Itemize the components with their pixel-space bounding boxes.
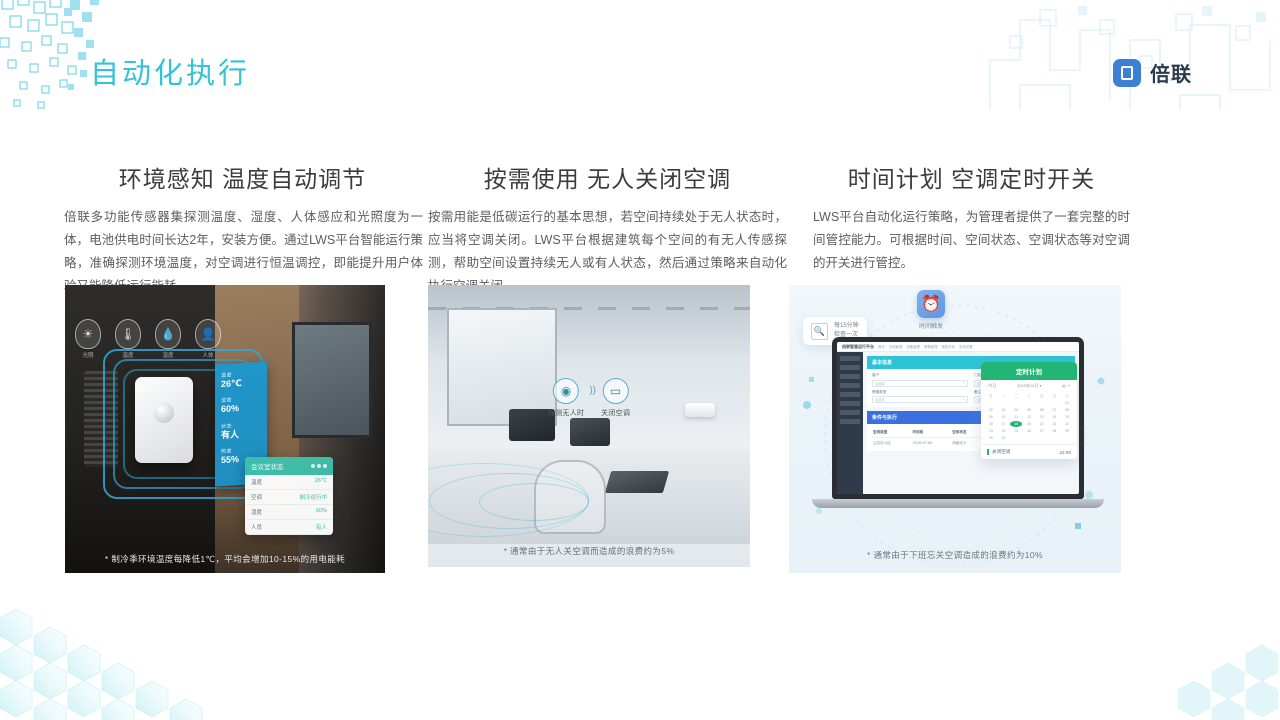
field-strategy-type: 策略类型 请选择 ˅ bbox=[872, 390, 968, 404]
card-row: 温度 26℃ bbox=[245, 475, 333, 490]
calendar-day[interactable]: 18 bbox=[1010, 421, 1022, 427]
calendar-dow: 五 bbox=[1049, 392, 1061, 399]
media-2-caption: * 通常由于无人关空调而造成的浪费约为5% bbox=[428, 545, 750, 557]
calendar-day[interactable]: 09 bbox=[985, 414, 997, 420]
calendar-day[interactable]: 07 bbox=[1049, 407, 1061, 413]
calendar-day[interactable]: 20 bbox=[1036, 421, 1048, 427]
calendar-dow: 二 bbox=[1010, 392, 1022, 399]
column-2-heading: 按需使用 无人关闭空调 bbox=[425, 160, 790, 194]
calendar-day[interactable]: 17 bbox=[998, 421, 1010, 427]
illustration-schedule: ⏰ 时间触发 🔍 每15分钟 检查一次 倍联智慧运行平台 首页 空间管理 设备管… bbox=[789, 285, 1121, 573]
calendar-day[interactable]: 04 bbox=[1010, 407, 1022, 413]
calendar-day[interactable]: 03 bbox=[998, 407, 1010, 413]
calendar-day[interactable]: 16 bbox=[985, 421, 997, 427]
field-customer: 客户 请选择 ˅ bbox=[872, 373, 968, 387]
customer-select[interactable]: 请选择 ˅ bbox=[872, 380, 968, 387]
calendar-day[interactable]: 27 bbox=[1036, 428, 1048, 434]
calendar-day-empty bbox=[998, 400, 1010, 406]
calendar-day[interactable]: 26 bbox=[1023, 428, 1035, 434]
nav-item[interactable]: 设备管理 bbox=[906, 344, 920, 349]
window-dots-icon bbox=[311, 464, 327, 468]
brand-logo: 倍联 bbox=[1113, 58, 1192, 87]
dashboard-screen: 倍联智慧运行平台 首页 空间管理 设备管理 策略管理 报表分析 系统设置 bbox=[837, 342, 1079, 494]
schedule-calendar-panel: 定时计划 ‹今日 2023年10月 ▾ ▤ ＋ 日一二三四五六010203040… bbox=[981, 362, 1077, 459]
media-3-caption: * 通常由于下班忘关空调造成的浪费约为10% bbox=[789, 549, 1121, 561]
nav-item[interactable]: 首页 bbox=[878, 344, 885, 349]
column-time-schedule: 时间计划 空调定时开关 LWS平台自动化运行策略，为管理者提供了一套完整的时间管… bbox=[789, 160, 1154, 275]
column-3-body: LWS平台自动化运行策略，为管理者提供了一套完整的时间管控能力。可根据时间、空间… bbox=[789, 206, 1154, 275]
column-3-heading: 时间计划 空调定时开关 bbox=[789, 160, 1154, 194]
calendar-today-button[interactable]: ‹今日 bbox=[987, 383, 996, 389]
event-label: 关闭空调 bbox=[987, 449, 1010, 455]
calendar-day-empty bbox=[1036, 400, 1048, 406]
calendar-day[interactable]: 02 bbox=[985, 407, 997, 413]
calendar-view-icons[interactable]: ▤ ＋ bbox=[1062, 383, 1071, 389]
laptop-base bbox=[812, 499, 1104, 508]
calendar-day[interactable]: 24 bbox=[998, 428, 1010, 434]
calendar-day[interactable]: 21 bbox=[1049, 421, 1061, 427]
calendar-day[interactable]: 06 bbox=[1036, 407, 1048, 413]
column-1-heading: 环境感知 温度自动调节 bbox=[60, 160, 425, 194]
occupancy-sensor-icon: 👤 人体 bbox=[195, 319, 221, 359]
calendar-day[interactable]: 08 bbox=[1061, 407, 1073, 413]
calendar-day[interactable]: 15 bbox=[1061, 414, 1073, 420]
photo-dark-room: ☀ 光照 🌡 温度 💧 湿度 👤 人体 温度 26℃ 湿度 bbox=[65, 285, 385, 573]
dashboard-brand: 倍联智慧运行平台 bbox=[842, 344, 874, 350]
logo-text: 倍联 bbox=[1150, 58, 1192, 87]
document-search-icon: 🔍 bbox=[811, 323, 828, 340]
calendar-day[interactable]: 14 bbox=[1049, 414, 1061, 420]
calendar-day-empty bbox=[1010, 400, 1022, 406]
calendar-dow: 日 bbox=[985, 392, 997, 399]
media-sensor-photo: ☀ 光照 🌡 温度 💧 湿度 👤 人体 温度 26℃ 湿度 bbox=[65, 285, 385, 573]
calendar-day[interactable]: 01 bbox=[1061, 400, 1073, 406]
logo-mark-icon bbox=[1113, 59, 1141, 87]
calendar-event[interactable]: 关闭空调 22:00 bbox=[981, 444, 1077, 459]
calendar-day-empty bbox=[1061, 435, 1073, 441]
calendar-dow: 六 bbox=[1061, 392, 1073, 399]
card-header: 会议室状态 bbox=[245, 457, 333, 475]
media-1-caption: * 制冷季环境温度每降低1℃，平均会增加10-15%的用电能耗 bbox=[65, 553, 385, 565]
humidity-sensor-icon: 💧 湿度 bbox=[155, 319, 181, 359]
photo-bright-office: ◉ 探测无人时 )) ▭ 关闭空调 * 通常由于无人关空调而造成的浪费约为5% bbox=[428, 285, 750, 567]
alarm-clock-icon: ⏰ bbox=[917, 290, 945, 318]
column-environment-sensing: 环境感知 温度自动调节 倍联多功能传感器集探测温度、湿度、人体感应和光照度为一体… bbox=[60, 160, 425, 299]
time-trigger-badge: ⏰ 时间触发 bbox=[917, 290, 945, 330]
chevron-down-icon: ˅ bbox=[963, 381, 965, 385]
calendar-day[interactable]: 28 bbox=[1049, 428, 1061, 434]
card-row: 空调 制冷运行中 bbox=[245, 490, 333, 505]
calendar-day[interactable]: 19 bbox=[1023, 421, 1035, 427]
media-office-photo: ◉ 探测无人时 )) ▭ 关闭空调 * 通常由于无人关空调而造成的浪费约为5% bbox=[428, 285, 750, 567]
event-time: 22:00 bbox=[1060, 450, 1072, 455]
calendar-day-empty bbox=[1023, 400, 1035, 406]
air-conditioner-unit bbox=[685, 403, 715, 417]
meeting-room-status-card: 会议室状态 温度 26℃ 空调 制冷运行中 湿度 60% 人员 有人 bbox=[245, 457, 333, 535]
laptop bbox=[605, 471, 669, 493]
signal-icon: )) bbox=[589, 385, 596, 412]
calendar-month-select[interactable]: 2023年10月 ▾ bbox=[1017, 383, 1041, 389]
readout-temperature: 温度 26℃ bbox=[221, 370, 261, 390]
nav-item[interactable]: 策略管理 bbox=[924, 344, 938, 349]
strategy-type-select[interactable]: 请选择 ˅ bbox=[872, 396, 968, 403]
calendar-title: 定时计划 bbox=[981, 362, 1077, 380]
calendar-dow: 三 bbox=[1023, 392, 1035, 399]
air-conditioner-icon: ▭ bbox=[603, 378, 629, 404]
occupancy-sensor-icon: ◉ bbox=[553, 378, 579, 404]
decor-bottom-right-hexagons bbox=[1050, 570, 1280, 720]
calendar-day[interactable]: 11 bbox=[1010, 414, 1022, 420]
readout-status: 状态 有人 bbox=[221, 420, 261, 440]
card-row: 人员 有人 bbox=[245, 520, 333, 535]
nav-item[interactable]: 空间管理 bbox=[889, 344, 903, 349]
calendar-day[interactable]: 12 bbox=[1023, 414, 1035, 420]
calendar-day-empty bbox=[1036, 435, 1048, 441]
monitor bbox=[570, 418, 610, 446]
calendar-day[interactable]: 23 bbox=[985, 428, 997, 434]
calendar-day-empty bbox=[1049, 435, 1061, 441]
calendar-day-empty bbox=[1023, 435, 1035, 441]
calendar-day-empty bbox=[985, 400, 997, 406]
calendar-day-empty bbox=[1049, 400, 1061, 406]
temperature-sensor-icon: 🌡 温度 bbox=[115, 319, 141, 359]
calendar-dow: 四 bbox=[1036, 392, 1048, 399]
close-ac-label: ▭ 关闭空调 bbox=[601, 378, 630, 418]
media-schedule-dashboard: ⏰ 时间触发 🔍 每15分钟 检查一次 倍联智慧运行平台 首页 空间管理 设备管… bbox=[789, 285, 1121, 573]
calendar-day[interactable]: 25 bbox=[1010, 428, 1022, 434]
dashboard-topbar: 倍联智慧运行平台 首页 空间管理 设备管理 策略管理 报表分析 系统设置 bbox=[837, 342, 1079, 352]
sensor-capability-icons: ☀ 光照 🌡 温度 💧 湿度 👤 人体 bbox=[75, 297, 221, 359]
calendar-nav: ‹今日 2023年10月 ▾ ▤ ＋ bbox=[981, 380, 1077, 392]
detect-unoccupied-label: ◉ 探测无人时 bbox=[548, 378, 585, 418]
nav-item[interactable]: 报表分析 bbox=[941, 344, 955, 349]
calendar-day-empty bbox=[1010, 435, 1022, 441]
light-sensor-icon: ☀ 光照 bbox=[75, 319, 101, 359]
calendar-day[interactable]: 10 bbox=[998, 414, 1010, 420]
laptop-mockup: 倍联智慧运行平台 首页 空间管理 设备管理 策略管理 报表分析 系统设置 bbox=[832, 337, 1084, 508]
calendar-grid: 日一二三四五六010203040506070809101112131415161… bbox=[981, 392, 1077, 444]
dashboard-sidebar bbox=[837, 352, 863, 494]
calendar-day[interactable]: 31 bbox=[998, 435, 1010, 441]
calendar-day[interactable]: 05 bbox=[1023, 407, 1035, 413]
column-on-demand: 按需使用 无人关闭空调 按需用能是低碳运行的基本思想，若空间持续处于无人状态时，… bbox=[425, 160, 790, 299]
calendar-dow: 一 bbox=[998, 392, 1010, 399]
readout-humidity: 湿度 60% bbox=[221, 395, 261, 415]
calendar-day[interactable]: 30 bbox=[985, 435, 997, 441]
calendar-day[interactable]: 13 bbox=[1036, 414, 1048, 420]
card-row: 湿度 60% bbox=[245, 505, 333, 520]
page-title: 自动化执行 bbox=[90, 50, 250, 92]
calendar-day[interactable]: 22 bbox=[1061, 421, 1073, 427]
flow-labels: ◉ 探测无人时 )) ▭ 关闭空调 bbox=[548, 378, 630, 418]
nav-item[interactable]: 系统设置 bbox=[959, 344, 973, 349]
chevron-down-icon: ˅ bbox=[963, 398, 965, 402]
calendar-day[interactable]: 29 bbox=[1061, 428, 1073, 434]
